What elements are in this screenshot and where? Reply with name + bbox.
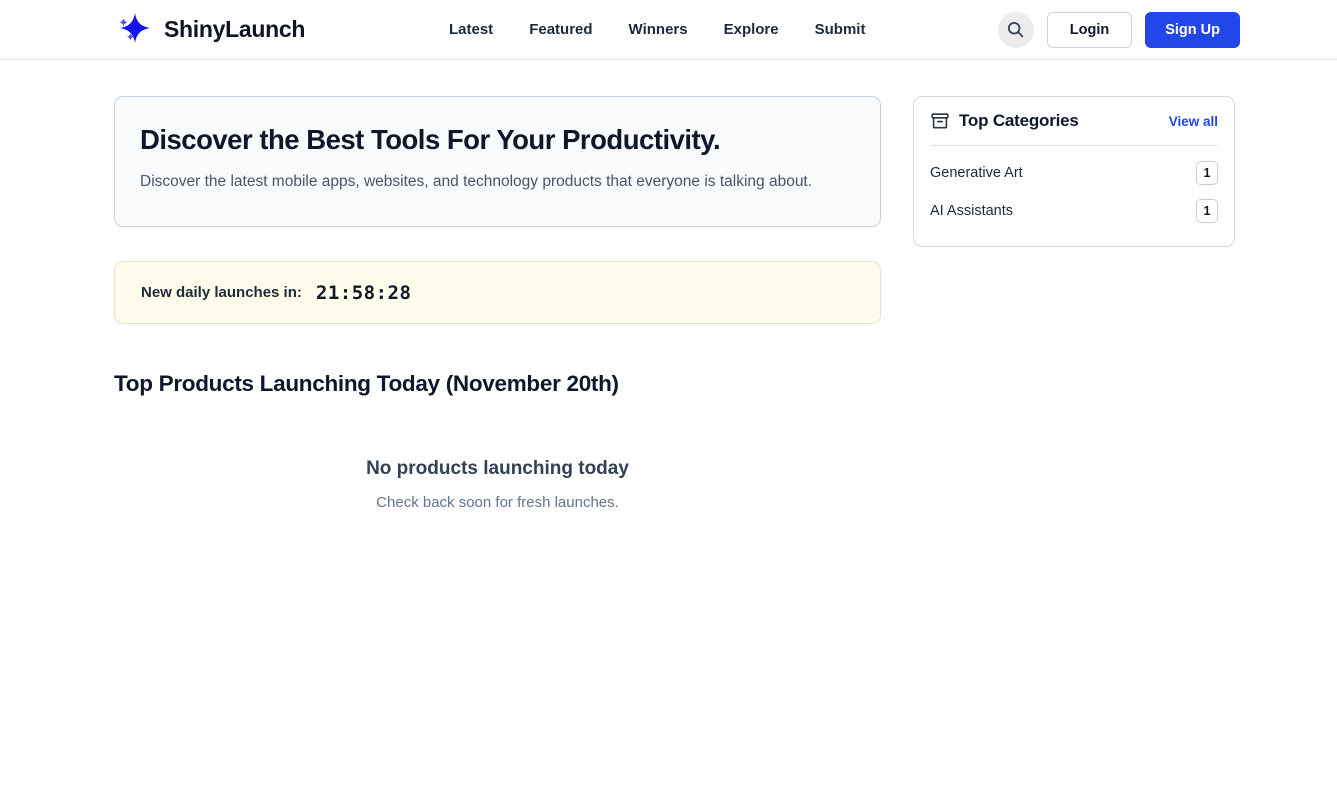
countdown-label: New daily launches in:: [141, 284, 302, 301]
empty-state: No products launching today Check back s…: [114, 458, 881, 511]
category-list: Generative Art 1 AI Assistants 1: [930, 146, 1218, 230]
hero-banner: Discover the Best Tools For Your Product…: [114, 96, 881, 227]
top-categories-card: Top Categories View all Generative Art 1…: [913, 96, 1235, 247]
category-count-badge: 1: [1196, 199, 1218, 223]
main-column: Discover the Best Tools For Your Product…: [114, 96, 881, 511]
category-name: AI Assistants: [930, 203, 1013, 219]
category-name: Generative Art: [930, 165, 1023, 181]
view-all-categories-link[interactable]: View all: [1169, 114, 1218, 129]
category-count-badge: 1: [1196, 161, 1218, 185]
page-body: Discover the Best Tools For Your Product…: [0, 60, 1337, 789]
empty-state-subtitle: Check back soon for fresh launches.: [114, 494, 881, 511]
nav-item-latest[interactable]: Latest: [449, 21, 493, 38]
category-row-generative-art[interactable]: Generative Art 1: [930, 154, 1218, 192]
countdown-timer: 21:58:28: [316, 282, 412, 304]
site-header: ShinyLaunch Latest Featured Winners Expl…: [0, 0, 1337, 60]
login-button[interactable]: Login: [1047, 12, 1132, 48]
header-actions: Login Sign Up: [998, 0, 1240, 59]
top-categories-header: Top Categories View all: [930, 111, 1218, 146]
countdown-banner: New daily launches in: 21:58:28: [114, 261, 881, 324]
nav-item-submit[interactable]: Submit: [815, 21, 866, 38]
hero-title: Discover the Best Tools For Your Product…: [140, 123, 855, 156]
category-row-ai-assistants[interactable]: AI Assistants 1: [930, 192, 1218, 230]
brand-logo-link[interactable]: ShinyLaunch: [114, 0, 305, 59]
nav-item-explore[interactable]: Explore: [724, 21, 779, 38]
section-title: Top Products Launching Today (November 2…: [114, 371, 881, 397]
top-categories-title: Top Categories: [959, 111, 1079, 131]
sidebar-column: Top Categories View all Generative Art 1…: [913, 96, 1235, 247]
nav-item-featured[interactable]: Featured: [529, 21, 592, 38]
nav-item-winners[interactable]: Winners: [629, 21, 688, 38]
archive-box-icon: [930, 111, 950, 131]
brand-name: ShinyLaunch: [164, 16, 305, 43]
sparkle-star-icon: [114, 9, 156, 51]
search-button[interactable]: [998, 12, 1034, 48]
empty-state-title: No products launching today: [114, 458, 881, 480]
signup-button[interactable]: Sign Up: [1145, 12, 1240, 48]
hero-subtitle: Discover the latest mobile apps, website…: [140, 168, 830, 196]
main-navigation: Latest Featured Winners Explore Submit: [449, 0, 865, 59]
search-icon: [1006, 20, 1025, 39]
